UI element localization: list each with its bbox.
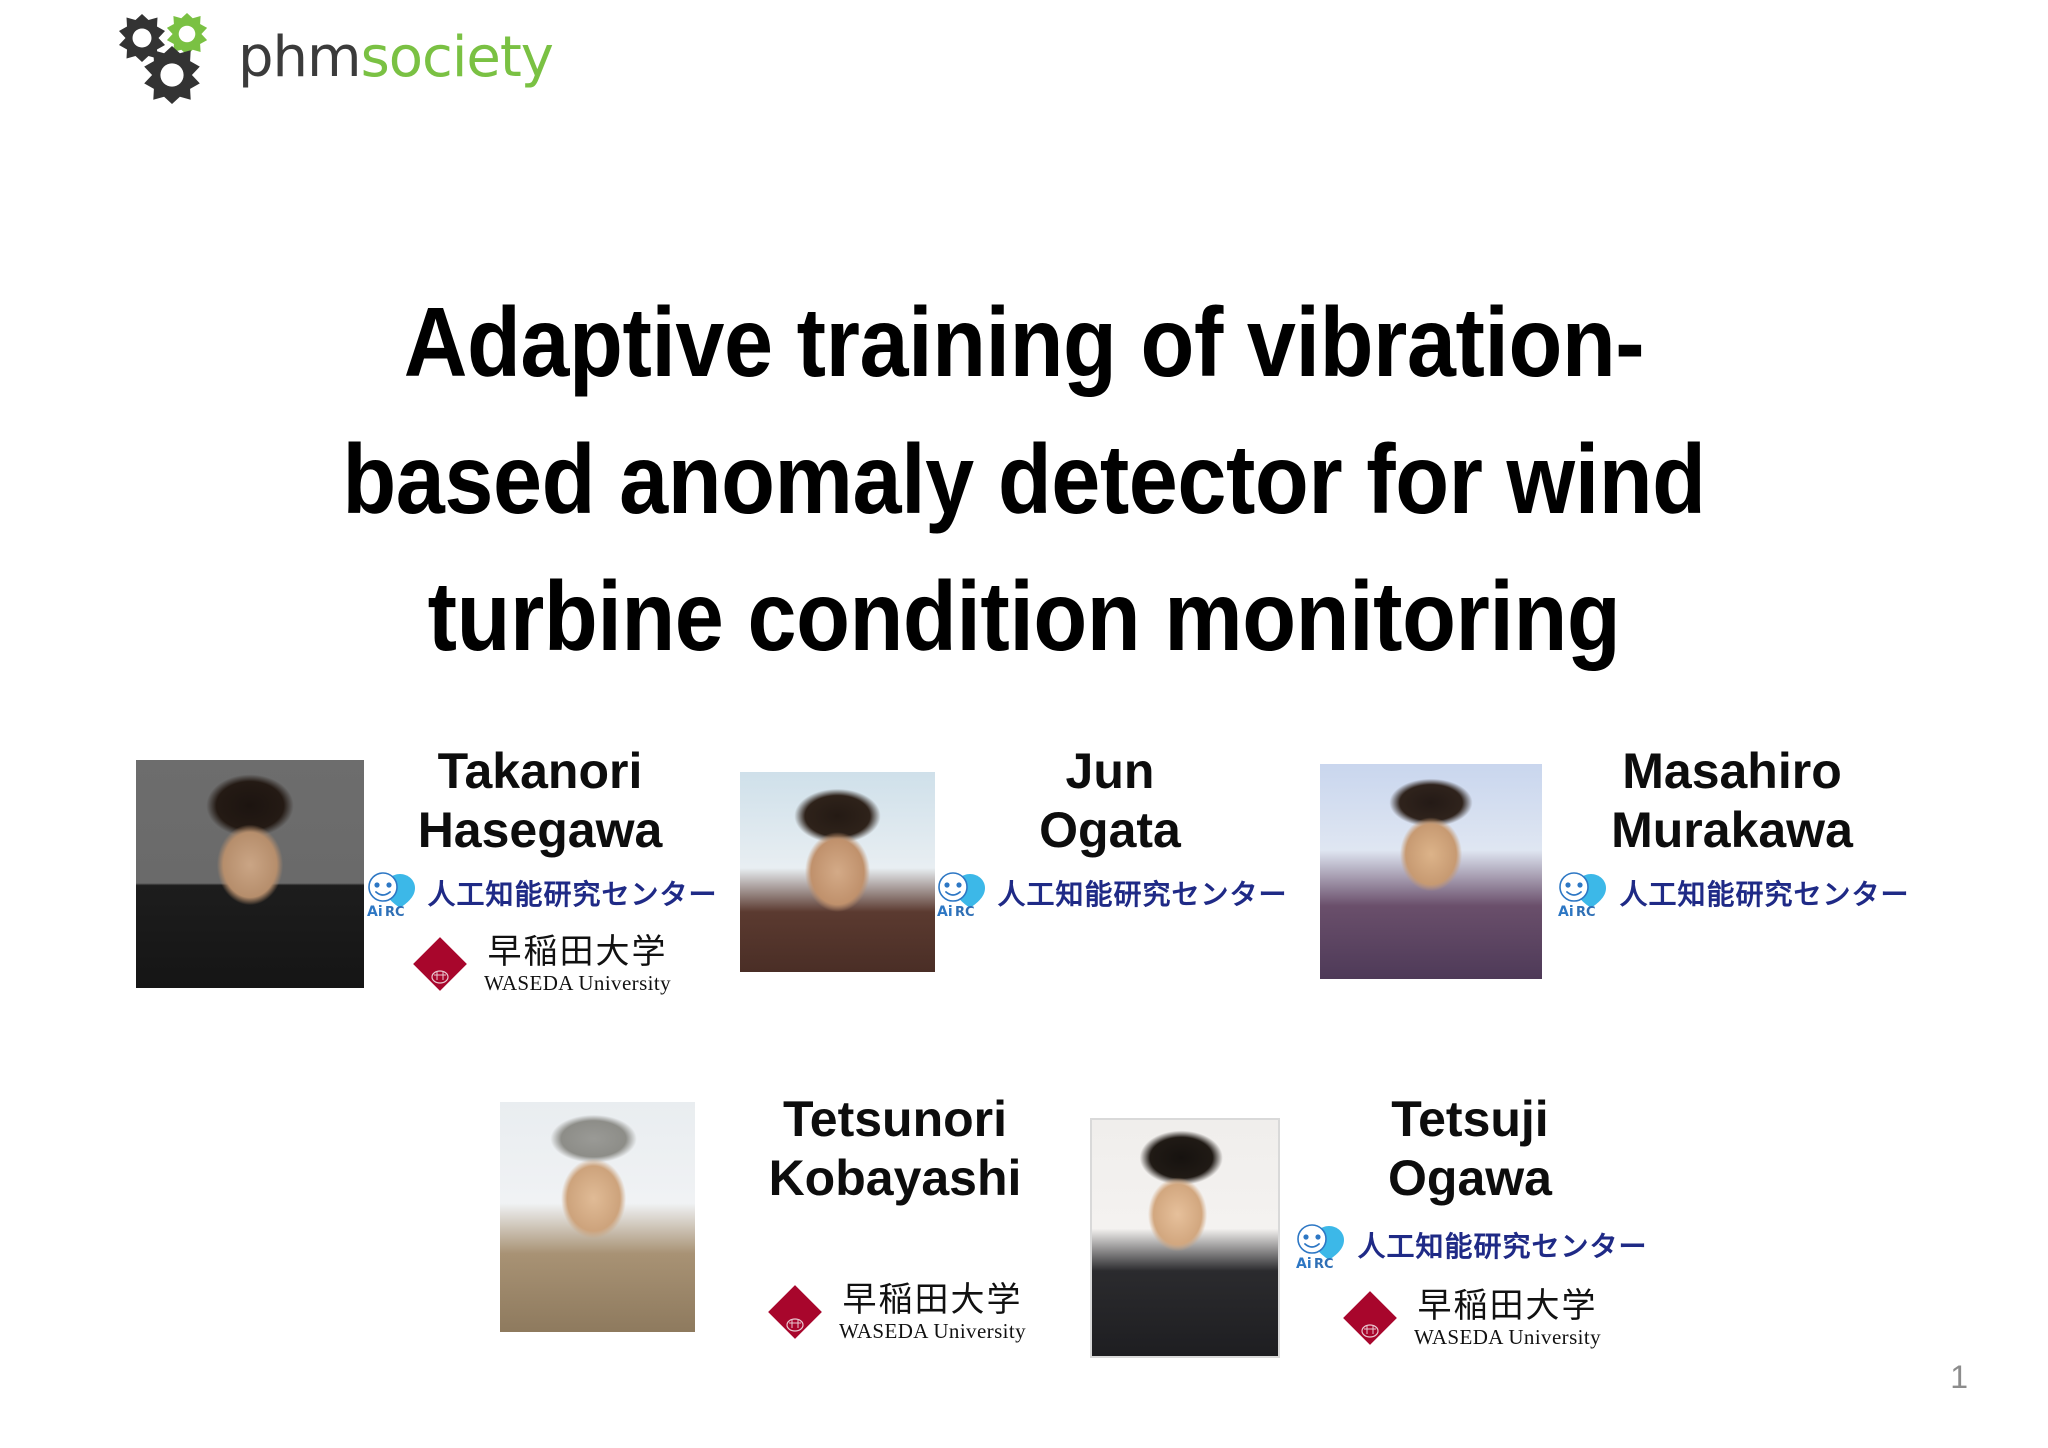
airc-mascot-icon: Ai RC <box>1554 870 1610 920</box>
author-info-murakawa: Masahiro Murakawa Ai RC <box>1552 742 1912 920</box>
waseda-japanese-label: 早稲田大学 <box>1417 1289 1597 1323</box>
svg-text:Ai: Ai <box>1296 1256 1312 1272</box>
airc-logo: Ai RC 人工知能研究センター <box>1554 870 1909 920</box>
author-info-kobayashi: Tetsunori Kobayashi <box>705 1090 1085 1348</box>
page-number: 1 <box>1950 1359 1968 1396</box>
logo-text-phm: phm <box>238 25 361 90</box>
author-name-ogata-jun: Jun Ogata <box>945 742 1275 860</box>
waseda-diamond-icon <box>409 933 471 995</box>
waseda-japanese-label: 早稲田大学 <box>487 935 667 969</box>
author-name-murakawa: Masahiro Murakawa <box>1552 742 1912 860</box>
svg-text:Ai: Ai <box>1558 904 1574 920</box>
affiliations-murakawa: Ai RC 人工知能研究センター <box>1552 870 1912 920</box>
title-line-2: based anomaly detector for wind <box>174 411 1873 548</box>
waseda-diamond-icon <box>764 1281 826 1343</box>
airc-logo: Ai RC 人工知能研究センター <box>363 870 718 920</box>
airc-logo: Ai RC 人工知能研究センター <box>933 870 1288 920</box>
svg-text:RC: RC <box>385 905 405 920</box>
title-line-1: Adaptive training of vibration- <box>174 274 1873 411</box>
svg-text:RC: RC <box>955 905 975 920</box>
svg-text:RC: RC <box>1576 905 1596 920</box>
author-name-kobayashi: Tetsunori Kobayashi <box>705 1090 1085 1208</box>
waseda-logo: 早稲田大学 WASEDA University <box>764 1276 1026 1348</box>
waseda-english-label: WASEDA University <box>484 973 671 994</box>
logo-text-society: society <box>361 25 553 90</box>
author-info-ogawa-tetsuji: Tetsuji Ogawa Ai RC <box>1290 1090 1650 1354</box>
waseda-text: 早稲田大学 WASEDA University <box>484 935 671 994</box>
svg-text:RC: RC <box>1314 1257 1334 1272</box>
airc-mascot-icon: Ai RC <box>1292 1222 1348 1272</box>
svg-text:Ai: Ai <box>367 904 383 920</box>
waseda-text: 早稲田大学 WASEDA University <box>1414 1289 1601 1348</box>
title-line-3: turbine condition monitoring <box>174 548 1873 685</box>
author-name-hasegawa: Takanori Hasegawa <box>370 742 710 860</box>
waseda-text: 早稲田大学 WASEDA University <box>839 1283 1026 1342</box>
airc-japanese-label: 人工知能研究センター <box>1619 881 1909 909</box>
author-name-ogawa-tetsuji: Tetsuji Ogawa <box>1290 1090 1650 1208</box>
waseda-logo: 早稲田大学 WASEDA University <box>1339 1282 1601 1354</box>
waseda-japanese-label: 早稲田大学 <box>842 1283 1022 1317</box>
affiliations-ogata-jun: Ai RC 人工知能研究センター <box>945 870 1275 920</box>
affiliations-kobayashi: 早稲田大学 WASEDA University <box>705 1276 1085 1348</box>
airc-japanese-label: 人工知能研究センター <box>428 881 718 909</box>
portrait-jun-ogata <box>740 772 935 972</box>
airc-japanese-label: 人工知能研究センター <box>1357 1233 1647 1261</box>
affiliations-hasegawa: Ai RC 人工知能研究センター <box>370 870 710 1000</box>
portrait-takanori-hasegawa <box>136 760 364 988</box>
airc-logo: Ai RC 人工知能研究センター <box>1292 1222 1647 1272</box>
author-info-hasegawa: Takanori Hasegawa Ai RC <box>370 742 710 1000</box>
portrait-tetsunori-kobayashi <box>500 1102 695 1332</box>
airc-japanese-label: 人工知能研究センター <box>998 881 1288 909</box>
airc-mascot-icon: Ai RC <box>363 870 419 920</box>
waseda-english-label: WASEDA University <box>1414 1327 1601 1348</box>
portrait-masahiro-murakawa <box>1320 764 1542 979</box>
phm-society-wordmark: phmsociety <box>238 30 553 86</box>
page-title: Adaptive training of vibration- based an… <box>174 274 1873 686</box>
author-info-ogata-jun: Jun Ogata Ai RC <box>945 742 1275 920</box>
waseda-logo: 早稲田大学 WASEDA University <box>409 928 671 1000</box>
svg-text:Ai: Ai <box>937 904 953 920</box>
portrait-tetsuji-ogawa <box>1090 1118 1280 1358</box>
gears-icon <box>112 12 224 104</box>
airc-mascot-icon: Ai RC <box>933 870 989 920</box>
affiliations-ogawa-tetsuji: Ai RC 人工知能研究センター <box>1290 1222 1650 1354</box>
phm-society-logo: phmsociety <box>112 12 553 104</box>
waseda-diamond-icon <box>1339 1287 1401 1349</box>
waseda-english-label: WASEDA University <box>839 1321 1026 1342</box>
